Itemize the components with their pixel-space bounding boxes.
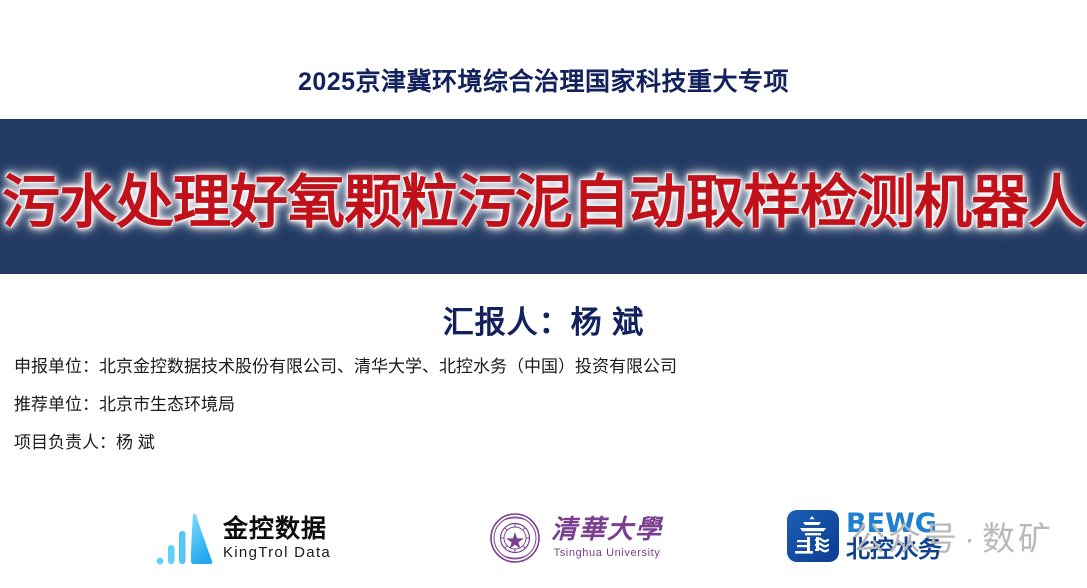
logo-bewg: BEWG 北控水务 bbox=[786, 509, 942, 563]
presentation-slide: 2025京津冀环境综合治理国家科技重大专项 污水处理好氧颗粒污泥自动取样检测机器… bbox=[0, 0, 1087, 588]
logo-tsinghua: 清華大學 Tsinghua University bbox=[489, 512, 663, 564]
info-block: 申报单位：北京金控数据技术股份有限公司、清华大学、北控水务（中国）投资有限公司 … bbox=[14, 358, 1014, 472]
presenter-line: 汇报人：杨 斌 bbox=[0, 297, 1087, 342]
tsinghua-wordmark: 清華大學 Tsinghua University bbox=[551, 517, 663, 559]
tsinghua-name-cn: 清華大學 bbox=[551, 517, 663, 543]
kingtrol-name-cn: 金控数据 bbox=[223, 517, 331, 542]
bar-chart-sail-icon bbox=[155, 509, 215, 567]
title-banner: 污水处理好氧颗粒污泥自动取样检测机器人 bbox=[0, 119, 1087, 274]
bewg-wordmark: BEWG 北控水务 bbox=[846, 510, 942, 562]
project-leader-line: 项目负责人：杨 斌 bbox=[14, 434, 1014, 451]
bewg-name-cn: 北控水务 bbox=[846, 538, 942, 562]
declaring-units-line: 申报单位：北京金控数据技术股份有限公司、清华大学、北控水务（中国）投资有限公司 bbox=[14, 358, 1014, 375]
tsinghua-name-en: Tsinghua University bbox=[551, 548, 663, 559]
recommending-unit-line: 推荐单位：北京市生态环境局 bbox=[14, 396, 1014, 413]
kingtrol-wordmark: 金控数据 KingTrol Data bbox=[223, 517, 331, 560]
kingtrol-name-en: KingTrol Data bbox=[223, 545, 331, 560]
logo-kingtrol: 金控数据 KingTrol Data bbox=[155, 509, 331, 567]
logo-row: 金控数据 KingTrol Data bbox=[0, 503, 1087, 583]
main-title: 污水处理好氧颗粒污泥自动取样检测机器人 bbox=[0, 155, 1087, 239]
temple-waves-icon bbox=[786, 509, 840, 563]
bewg-name-en: BEWG bbox=[846, 510, 942, 537]
tsinghua-seal-icon bbox=[489, 512, 541, 564]
program-title: 2025京津冀环境综合治理国家科技重大专项 bbox=[0, 62, 1087, 98]
